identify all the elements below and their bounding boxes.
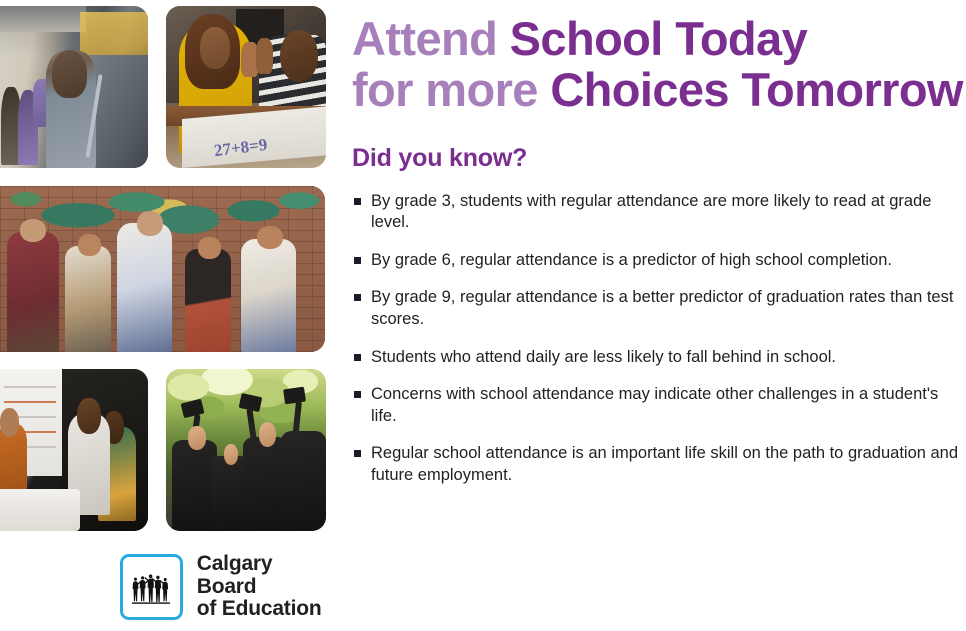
headline-school-today: School Today [510, 12, 807, 65]
poster-content: Attend School Today for more Choices Tom… [352, 0, 966, 631]
list-item: By grade 9, regular attendance is a bett… [352, 287, 963, 330]
bullet-square-icon [354, 391, 361, 398]
list-item-text: Concerns with school attendance may indi… [371, 385, 938, 425]
bullet-square-icon [354, 294, 361, 301]
section-heading-did-you-know: Did you know? [352, 116, 966, 173]
headline-line-2: for more Choices Tomorrow! [352, 65, 966, 116]
bullet-square-icon [354, 257, 361, 264]
logo-line-2: of Education [197, 598, 330, 621]
photo-classroom-discussion [0, 369, 148, 531]
photo-students-high-fiving: 27+8=9 [166, 6, 326, 168]
photo-student-boarding-school-bus [0, 6, 148, 168]
photo-collage: 27+8=9 [0, 0, 330, 631]
logo-line-1: Calgary Board [197, 552, 273, 598]
list-item-text: By grade 9, regular attendance is a bett… [371, 288, 953, 328]
list-item: Regular school attendance is an importan… [352, 443, 963, 486]
list-item: By grade 6, regular attendance is a pred… [352, 250, 963, 272]
facts-list: By grade 3, students with regular attend… [352, 173, 966, 487]
list-item-text: By grade 6, regular attendance is a pred… [371, 251, 892, 269]
headline-choices-tomorrow: Choices Tomorrow! [550, 63, 966, 116]
headline-line-1: Attend School Today [352, 14, 966, 65]
list-item: By grade 3, students with regular attend… [352, 191, 963, 234]
page-title: Attend School Today for more Choices Tom… [352, 0, 966, 116]
bullet-square-icon [354, 198, 361, 205]
calgary-board-of-education-logo: Calgary Board of Education [120, 553, 330, 621]
bullet-square-icon [354, 354, 361, 361]
photo-students-in-regalia-at-mural [0, 186, 325, 352]
list-item-text: Regular school attendance is an importan… [371, 444, 958, 484]
list-item: Concerns with school attendance may indi… [352, 384, 963, 427]
people-group-icon [120, 554, 183, 620]
list-item-text: Students who attend daily are less likel… [371, 348, 836, 366]
list-item: Students who attend daily are less likel… [352, 347, 963, 369]
logo-wordmark: Calgary Board of Education [197, 553, 330, 621]
photo-graduates-tossing-caps [166, 369, 326, 531]
headline-for-more: for more [352, 63, 550, 116]
bullet-square-icon [354, 450, 361, 457]
list-item-text: By grade 3, students with regular attend… [371, 192, 931, 232]
headline-attend: Attend [352, 12, 510, 65]
